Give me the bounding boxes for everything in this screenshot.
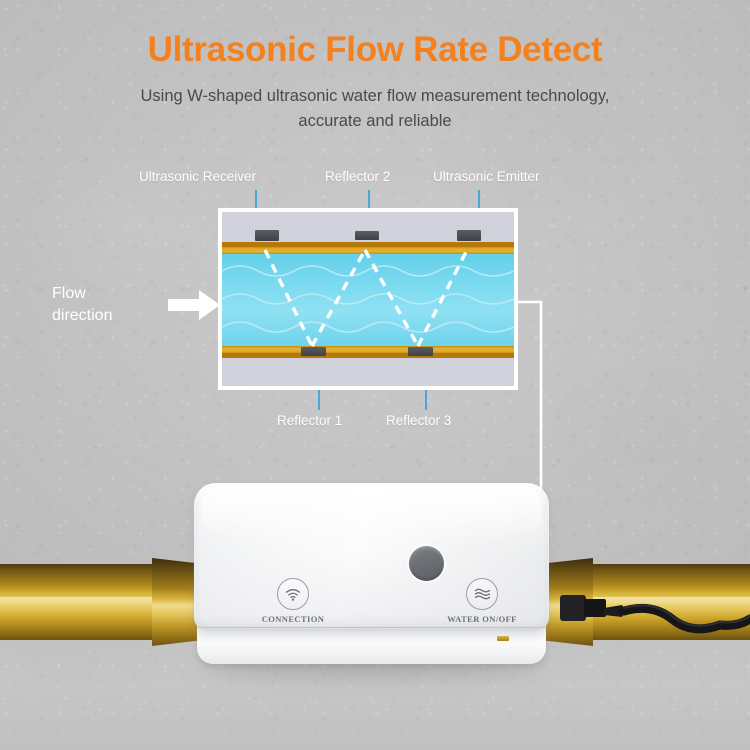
control-connection-label: CONNECTION bbox=[258, 614, 328, 624]
cable-cord bbox=[624, 608, 750, 629]
brass-pipe-left-highlight bbox=[0, 597, 160, 604]
sensor-ultrasonic-emitter bbox=[457, 230, 481, 241]
callout-tick-ultrasonic-emitter bbox=[478, 190, 480, 210]
device-top-gloss bbox=[202, 487, 541, 545]
callout-label-reflector-1: Reflector 1 bbox=[277, 413, 342, 428]
flow-direction-line-1: Flow bbox=[52, 285, 86, 302]
device-seam-line bbox=[197, 627, 546, 628]
sensor-ultrasonic-receiver bbox=[255, 230, 279, 241]
brass-nut-left bbox=[152, 558, 197, 646]
callout-tick-reflector-3 bbox=[425, 390, 427, 410]
cable-strain-relief bbox=[560, 595, 586, 621]
callout-tick-reflector-2 bbox=[368, 190, 370, 210]
device-gold-contact bbox=[497, 636, 509, 641]
sensor-reflector-2 bbox=[355, 231, 379, 240]
cable-ferrule bbox=[584, 599, 606, 617]
control-water-on-off[interactable]: WATER ON/OFF bbox=[443, 578, 521, 624]
pipe-panel-inner bbox=[222, 212, 514, 386]
arrow-right-icon bbox=[168, 290, 220, 320]
sensor-reflector-1 bbox=[301, 347, 326, 356]
callout-tick-reflector-1 bbox=[318, 390, 320, 410]
page-subtitle: Using W-shaped ultrasonic water flow mea… bbox=[112, 84, 638, 134]
flow-direction-label: Flow direction bbox=[52, 283, 172, 327]
callout-label-reflector-2: Reflector 2 bbox=[325, 169, 390, 184]
control-water-on-off-label: WATER ON/OFF bbox=[443, 614, 521, 624]
pipe-cross-section-panel bbox=[218, 208, 518, 390]
brass-pipe-left bbox=[0, 564, 160, 640]
power-cable bbox=[560, 575, 750, 655]
wifi-icon-glyph bbox=[285, 588, 301, 601]
callout-label-reflector-3: Reflector 3 bbox=[386, 413, 451, 428]
page-title: Ultrasonic Flow Rate Detect bbox=[0, 30, 750, 70]
control-connection[interactable]: CONNECTION bbox=[258, 578, 328, 624]
water-waves-icon bbox=[466, 578, 498, 610]
sensor-reflector-3 bbox=[408, 347, 433, 356]
infographic-canvas: Ultrasonic Flow Rate Detect Using W-shap… bbox=[0, 0, 750, 750]
callout-tick-ultrasonic-receiver bbox=[255, 190, 257, 210]
brass-nut-left-face bbox=[152, 558, 197, 646]
wifi-icon bbox=[277, 578, 309, 610]
water-waves-icon-glyph bbox=[474, 587, 491, 601]
callout-label-ultrasonic-emitter: Ultrasonic Emitter bbox=[433, 169, 540, 184]
flow-direction-line-2: direction bbox=[52, 307, 112, 324]
callout-label-ultrasonic-receiver: Ultrasonic Receiver bbox=[139, 169, 256, 184]
round-button-icon[interactable] bbox=[409, 546, 444, 581]
